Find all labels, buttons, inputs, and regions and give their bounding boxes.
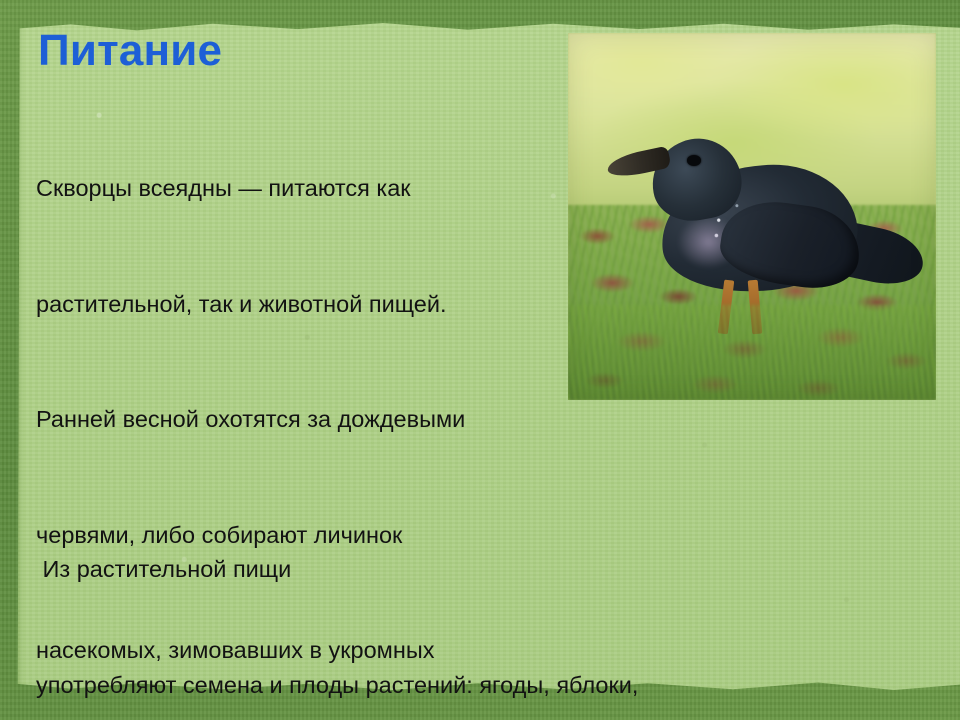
bird-eye xyxy=(687,155,702,166)
text-line: Скворцы всеядны — питаются как xyxy=(36,169,469,208)
text-line: Ранней весной охотятся за дождевыми xyxy=(36,400,469,439)
paragraph-bottom: Из растительной пищи употребляют семена … xyxy=(36,473,830,720)
slide: Питание Скворцы всеядны — питаются как р… xyxy=(0,0,960,720)
photo-foreground-grass xyxy=(568,305,936,400)
page-title: Питание xyxy=(38,28,222,74)
starling-photo xyxy=(568,33,936,400)
text-line: употребляют семена и плоды растений: яго… xyxy=(36,666,830,705)
text-line: растительной, так и животной пищей. xyxy=(36,285,469,324)
text-line: Из растительной пищи xyxy=(36,550,830,589)
